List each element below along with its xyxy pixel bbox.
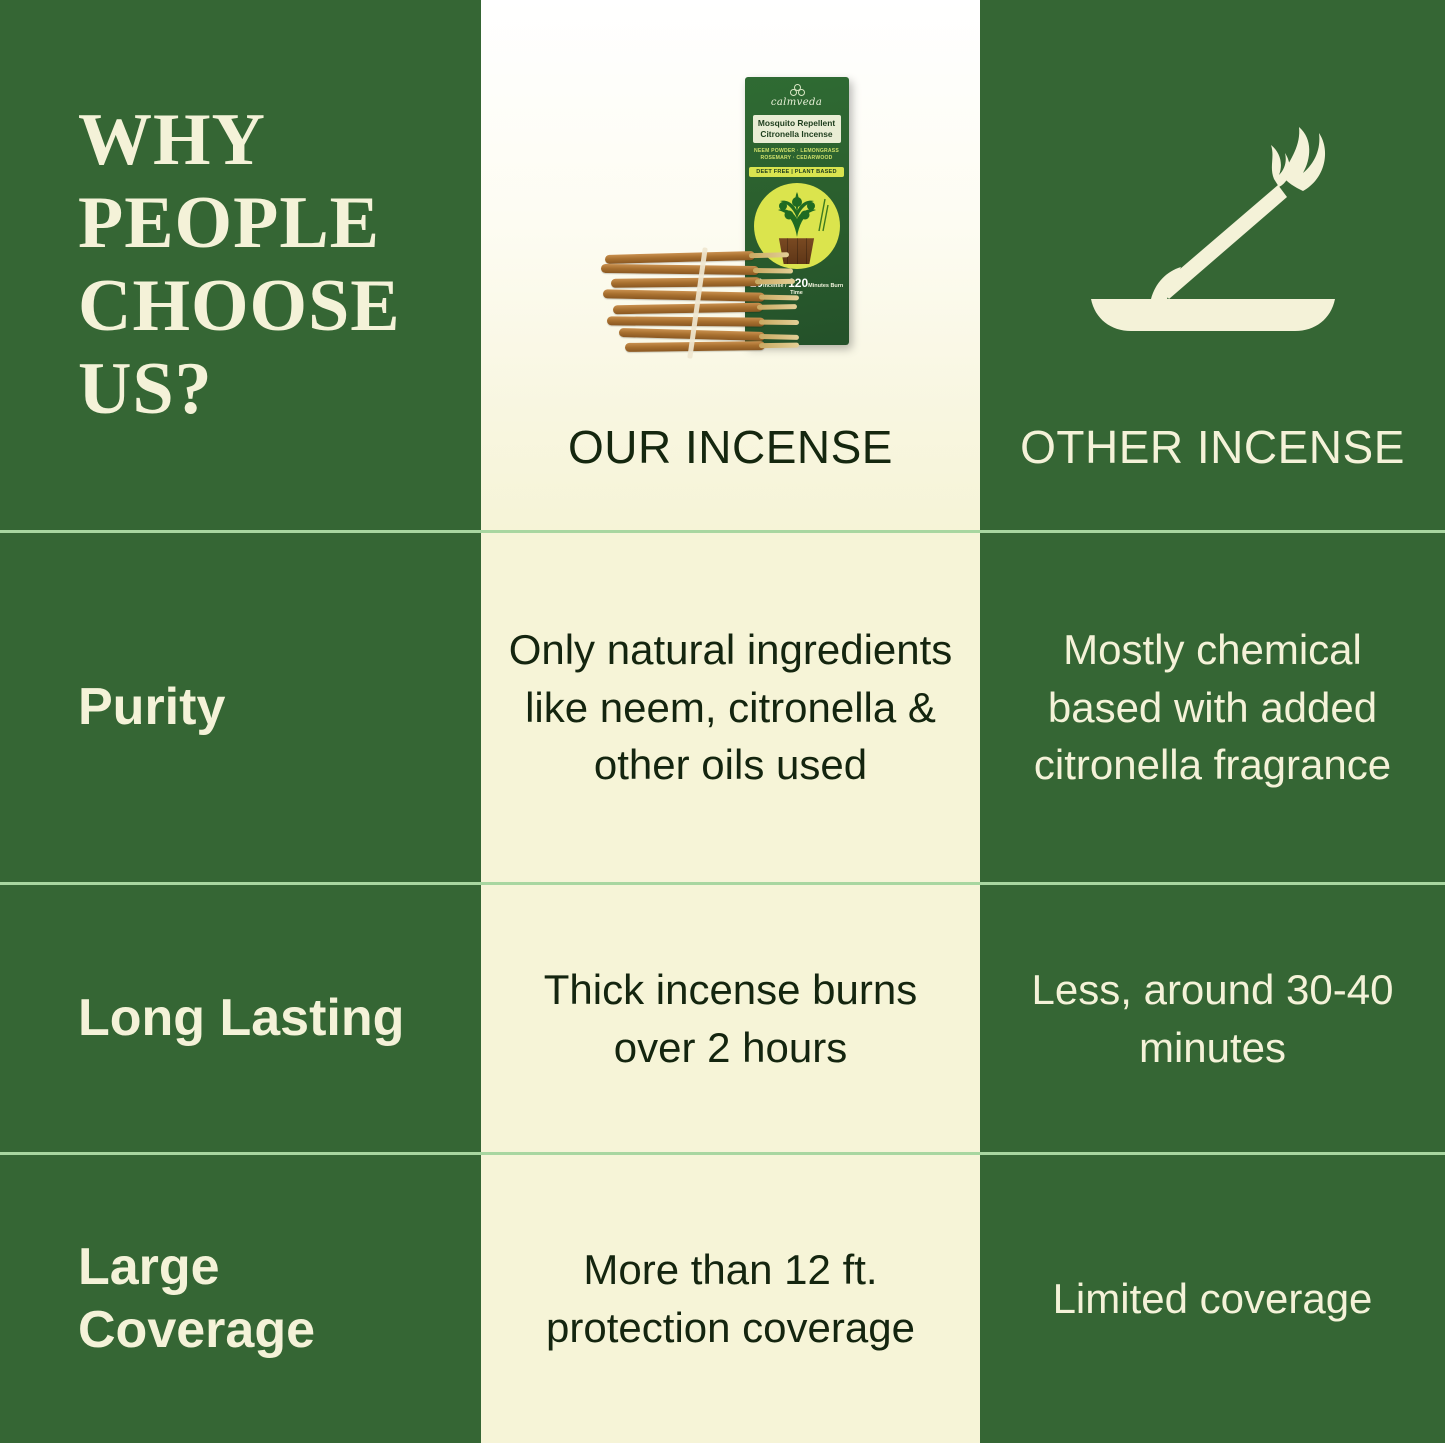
row-label-cell: Long Lasting: [0, 885, 481, 1152]
row-our-incense-text: Only natural ingredients like neem, citr…: [481, 533, 980, 882]
package-name-line-2: Citronella Incense: [755, 129, 839, 140]
plant-icon: [761, 191, 833, 239]
column-header-other-incense: OTHER INCENSE: [1020, 420, 1405, 530]
header-row: Why People Choose Us? calmveda Mosquito …: [0, 0, 1445, 530]
header-title-cell: Why People Choose Us?: [0, 0, 481, 530]
row-label-cell: Large Coverage: [0, 1155, 481, 1443]
package-brand: calmveda: [771, 97, 822, 108]
incense-sticks-bundle: [601, 251, 819, 359]
table-row: Large Coverage More than 12 ft. protecti…: [0, 1152, 1445, 1443]
table-row: Purity Only natural ingredients like nee…: [0, 530, 1445, 882]
package-ingredients-line-1: NEEM POWDER · LEMONGRASS: [754, 148, 839, 155]
header-other-incense-cell: OTHER INCENSE: [980, 0, 1445, 530]
column-header-our-incense: OUR INCENSE: [568, 420, 893, 530]
row-other-incense-text: Mostly chemical based with added citrone…: [980, 533, 1445, 882]
package-product-name: Mosquito Repellent Citronella Incense: [753, 115, 841, 143]
comparison-infographic: Why People Choose Us? calmveda Mosquito …: [0, 0, 1445, 1443]
calmveda-logo-icon: [790, 84, 803, 95]
row-label: Long Lasting: [78, 987, 404, 1050]
row-other-incense-cell: Mostly chemical based with added citrone…: [980, 533, 1445, 882]
row-label: Purity: [78, 676, 225, 739]
page-title: Why People Choose Us?: [78, 99, 461, 431]
table-row: Long Lasting Thick incense burns over 2 …: [0, 882, 1445, 1152]
incense-burner-icon: [1063, 87, 1363, 357]
row-our-incense-cell: Thick incense burns over 2 hours: [481, 885, 980, 1152]
row-our-incense-text: More than 12 ft. protection coverage: [481, 1155, 980, 1443]
row-label-cell: Purity: [0, 533, 481, 882]
package-claim-badge: DEET FREE | PLANT BASED: [749, 167, 843, 177]
row-our-incense-cell: More than 12 ft. protection coverage: [481, 1155, 980, 1443]
package-ingredients: NEEM POWDER · LEMONGRASS ROSEMARY · CEDA…: [754, 148, 839, 163]
row-other-incense-cell: Less, around 30-40 minutes: [980, 885, 1445, 1152]
product-photo: calmveda Mosquito Repellent Citronella I…: [481, 0, 980, 420]
row-other-incense-cell: Limited coverage: [980, 1155, 1445, 1443]
row-other-incense-text: Limited coverage: [980, 1155, 1445, 1443]
package-ingredients-line-2: ROSEMARY · CEDARWOOD: [754, 155, 839, 162]
row-our-incense-cell: Only natural ingredients like neem, citr…: [481, 533, 980, 882]
header-our-incense-cell: calmveda Mosquito Repellent Citronella I…: [481, 0, 980, 530]
package-name-line-1: Mosquito Repellent: [755, 118, 839, 129]
row-label: Large Coverage: [78, 1236, 461, 1363]
row-other-incense-text: Less, around 30-40 minutes: [980, 885, 1445, 1152]
row-our-incense-text: Thick incense burns over 2 hours: [481, 885, 980, 1152]
